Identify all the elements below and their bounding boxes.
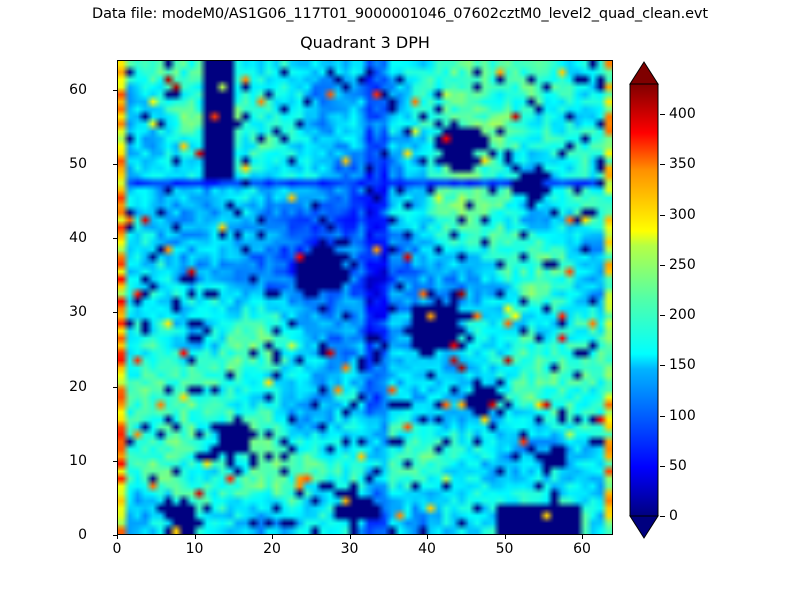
colorbar-gradient <box>626 60 786 540</box>
y-tick-mark <box>113 535 117 536</box>
y-tick-label: 10 <box>69 453 87 469</box>
colorbar-tick-label: 250 <box>669 257 696 273</box>
x-tick-label: 10 <box>186 541 204 557</box>
y-tick-mark <box>113 90 117 91</box>
x-tick-label: 30 <box>341 541 359 557</box>
x-tick-mark <box>272 535 273 539</box>
colorbar-tick-label: 150 <box>669 357 696 373</box>
colorbar-tick-label: 100 <box>669 408 696 424</box>
x-tick-mark <box>195 535 196 539</box>
colorbar-tick-label: 200 <box>669 307 696 323</box>
colorbar-tick-mark <box>660 365 665 366</box>
colorbar-tick-mark <box>660 265 665 266</box>
colorbar-tick-mark <box>660 164 665 165</box>
colorbar-tick-label: 350 <box>669 156 696 172</box>
x-tick-label: 50 <box>496 541 514 557</box>
y-tick-mark <box>113 461 117 462</box>
colorbar-tick-mark <box>660 416 665 417</box>
x-tick-mark <box>117 535 118 539</box>
colorbar-tick-mark <box>660 114 665 115</box>
y-tick-label: 60 <box>69 82 87 98</box>
axes-title: Quadrant 3 DPH <box>117 33 613 52</box>
colorbar-tick-label: 300 <box>669 207 696 223</box>
x-tick-label: 0 <box>113 541 122 557</box>
y-tick-label: 50 <box>69 156 87 172</box>
y-tick-mark <box>113 164 117 165</box>
detector-pixel-heatmap <box>118 61 612 534</box>
y-tick-label: 20 <box>69 379 87 395</box>
matplotlib-figure: Data file: modeM0/AS1G06_117T01_90000010… <box>0 0 800 600</box>
y-tick-mark <box>113 238 117 239</box>
x-tick-mark <box>505 535 506 539</box>
x-tick-mark <box>427 535 428 539</box>
colorbar-tick-mark <box>660 315 665 316</box>
colorbar-tick-label: 50 <box>669 458 687 474</box>
colorbar-tick-label: 400 <box>669 106 696 122</box>
colorbar: 050100150200250300350400 <box>626 60 786 540</box>
y-tick-mark <box>113 387 117 388</box>
x-tick-mark <box>350 535 351 539</box>
x-tick-mark <box>582 535 583 539</box>
colorbar-tick-mark <box>660 466 665 467</box>
y-tick-label: 40 <box>69 230 87 246</box>
colorbar-tick-mark <box>660 215 665 216</box>
x-tick-label: 20 <box>263 541 281 557</box>
x-tick-label: 40 <box>418 541 436 557</box>
y-tick-label: 30 <box>69 304 87 320</box>
colorbar-tick-mark <box>660 516 665 517</box>
heatmap-axes <box>117 60 613 535</box>
y-tick-label: 0 <box>78 527 87 543</box>
x-tick-label: 60 <box>573 541 591 557</box>
colorbar-tick-label: 0 <box>669 508 678 524</box>
figure-suptitle: Data file: modeM0/AS1G06_117T01_90000010… <box>0 6 800 22</box>
y-tick-mark <box>113 312 117 313</box>
